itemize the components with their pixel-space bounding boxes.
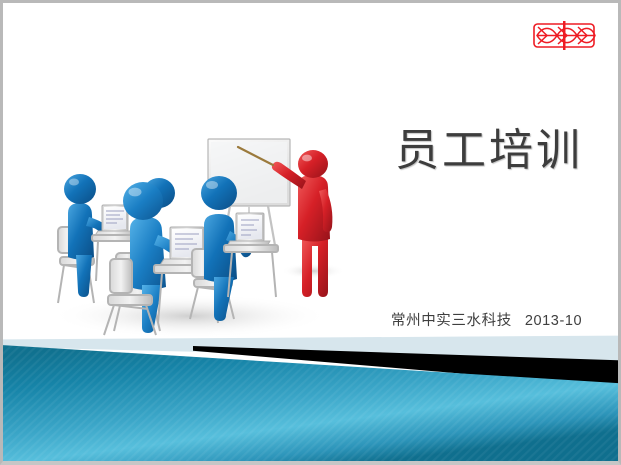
presentation-slide: 员工培训 常州中实三水科技2013-10	[0, 0, 621, 465]
company-logo	[532, 20, 596, 51]
slide-subtitle: 常州中实三水科技2013-10	[391, 309, 582, 330]
company-name: 常州中实三水科技	[391, 313, 512, 329]
page-title: 员工培训	[395, 127, 583, 175]
training-illustration	[30, 131, 360, 341]
bottom-decoration-banner	[3, 328, 618, 461]
slide-date: 2013-10	[525, 313, 582, 329]
